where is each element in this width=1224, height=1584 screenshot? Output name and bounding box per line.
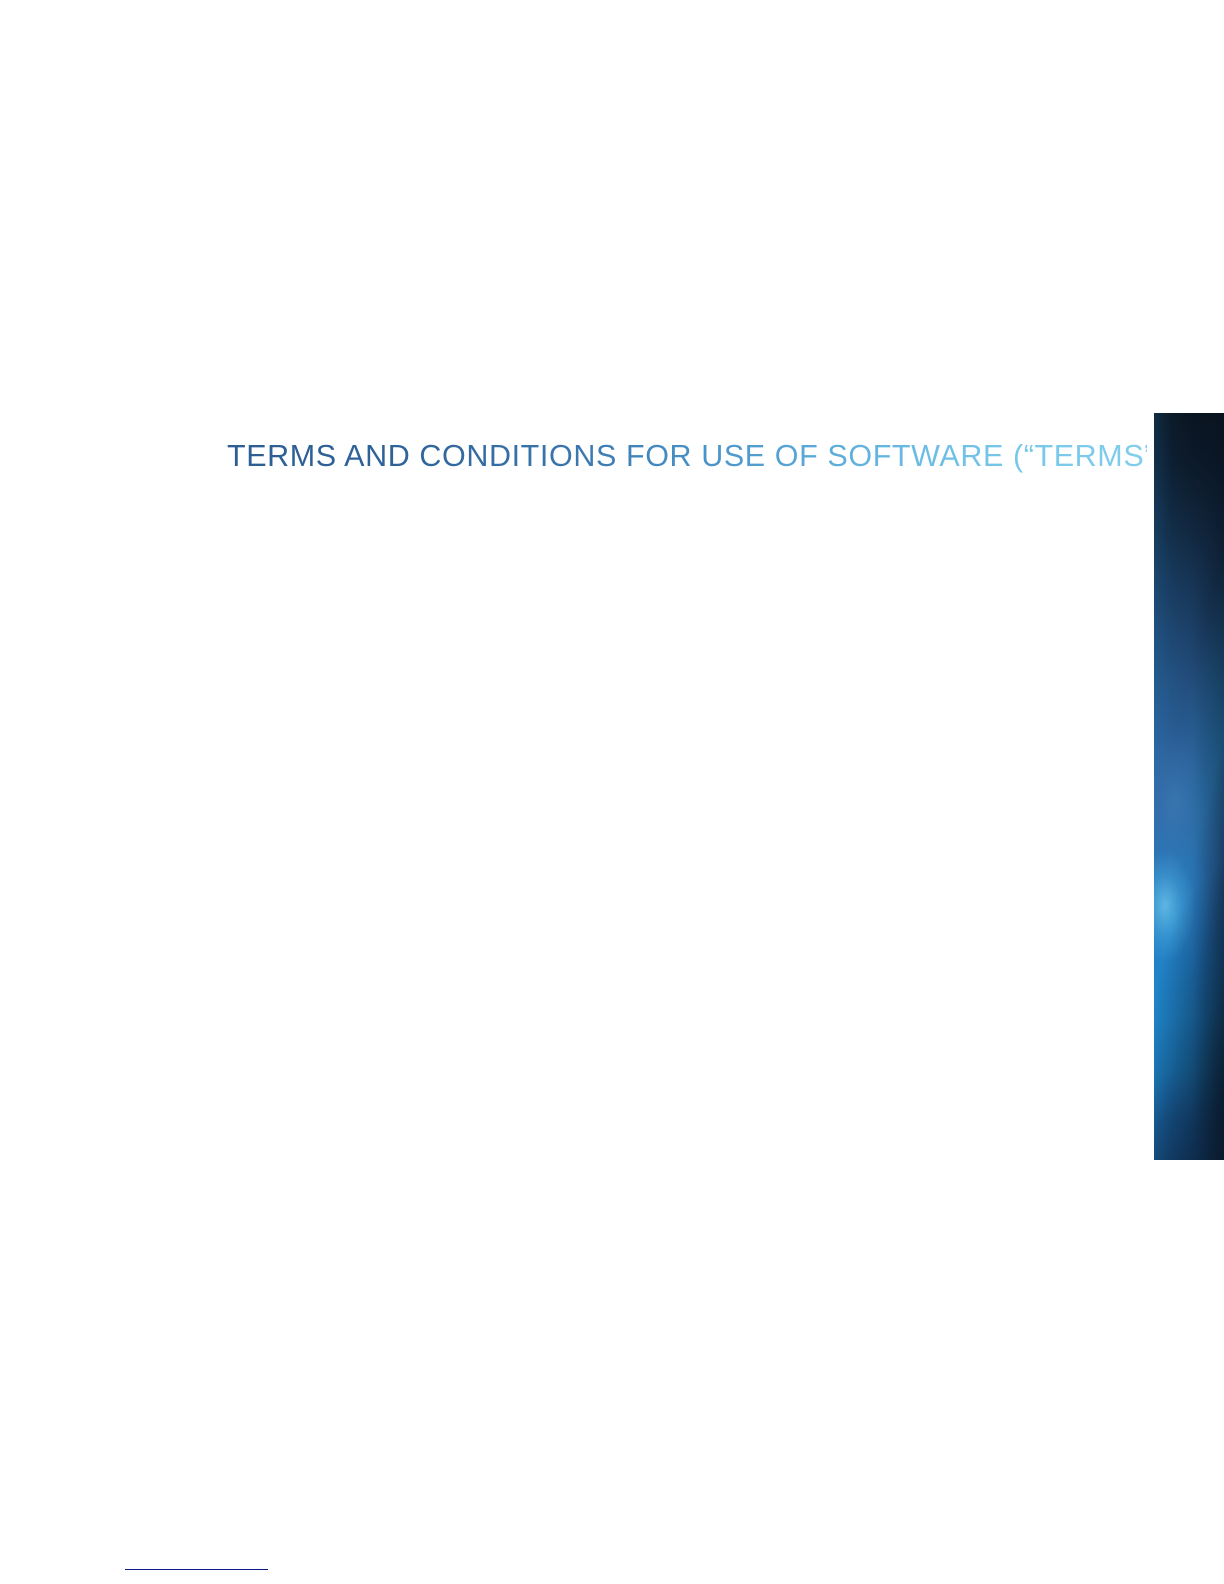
decorative-blue-strip [1154,413,1224,1160]
page-title: TERMS AND CONDITIONS FOR USE OF SOFTWARE… [227,437,1147,475]
strip-dark-corner [1154,413,1224,1160]
document-page: TERMS AND CONDITIONS FOR USE OF SOFTWARE… [0,0,1224,1584]
body-content-area [125,510,1125,1550]
footnote-separator-rule [125,1569,268,1570]
